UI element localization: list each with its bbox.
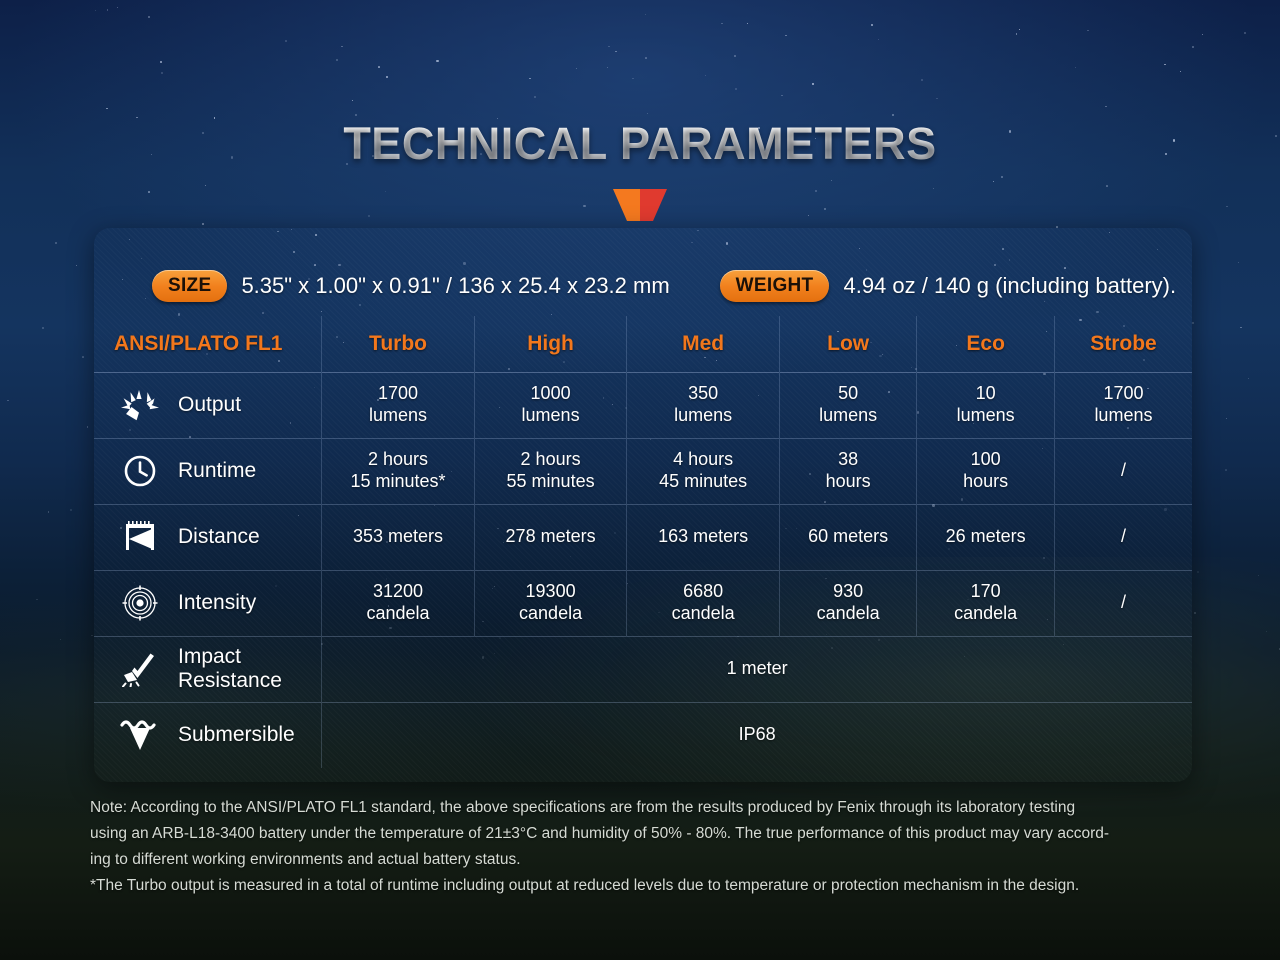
cell-runtime-low: 38 hours xyxy=(779,438,917,504)
cell-runtime-strobe: / xyxy=(1054,438,1192,504)
column-header-strobe: Strobe xyxy=(1054,316,1192,372)
cell-line-2: lumens xyxy=(1055,405,1192,427)
cell-distance-high: 278 meters xyxy=(474,504,627,570)
table-header-row: ANSI/PLATO FL1 Turbo High Med Low Eco St… xyxy=(94,316,1192,372)
table-row: Distance 353 meters 278 meters 163 meter… xyxy=(94,504,1192,570)
impact-label-line2: Resistance xyxy=(178,669,282,692)
column-header-low: Low xyxy=(779,316,917,372)
cell-line-2: hours xyxy=(780,471,917,493)
footnote-line-2: using an ARB-L18-3400 battery under the … xyxy=(90,821,1208,847)
table-body: Output 1700 lumens 1000 lumens 350 lumen… xyxy=(94,372,1192,768)
cell-line-2: hours xyxy=(917,471,1054,493)
cell-line-2: candela xyxy=(780,603,917,625)
column-header-standard: ANSI/PLATO FL1 xyxy=(94,316,322,372)
size-weight-row: SIZE 5.35" x 1.00" x 0.91" / 136 x 25.4 … xyxy=(94,228,1192,316)
weight-badge: WEIGHT xyxy=(720,270,830,302)
column-header-high: High xyxy=(474,316,627,372)
cell-line-2: lumens xyxy=(917,405,1054,427)
row-label-text: ImpactResistance xyxy=(178,645,282,692)
row-label-text: Runtime xyxy=(178,459,256,483)
cell-output-turbo: 1700 lumens xyxy=(322,372,475,438)
cell-line-2: candela xyxy=(322,603,474,625)
cell-submersible-value: IP68 xyxy=(322,702,1192,768)
sunburst-icon xyxy=(116,385,164,425)
row-label-runtime: Runtime xyxy=(94,438,322,504)
cell-runtime-eco: 100 hours xyxy=(917,438,1055,504)
cell-line-1: 1700 xyxy=(1055,383,1192,405)
row-label-text: Output xyxy=(178,393,241,417)
cell-line-1: 2 hours xyxy=(322,449,474,471)
cell-line-2: lumens xyxy=(780,405,917,427)
row-label-submersible: Submersible xyxy=(94,702,322,768)
column-header-med: Med xyxy=(627,316,780,372)
cell-line-1: 6680 xyxy=(627,581,779,603)
cell-intensity-eco: 170 candela xyxy=(917,570,1055,636)
cell-line-1: 100 xyxy=(917,449,1054,471)
column-header-eco: Eco xyxy=(917,316,1055,372)
specs-table: ANSI/PLATO FL1 Turbo High Med Low Eco St… xyxy=(94,316,1192,768)
column-header-turbo: Turbo xyxy=(322,316,475,372)
cell-line-2: candela xyxy=(475,603,627,625)
page-title: TECHNICAL PARAMETERS xyxy=(343,118,936,170)
footnote-line-3: ing to different working environments an… xyxy=(90,847,1208,873)
row-label-text: Submersible xyxy=(178,723,295,747)
cell-line-1: 10 xyxy=(917,383,1054,405)
cell-intensity-low: 930 candela xyxy=(779,570,917,636)
cell-line-1: 1700 xyxy=(322,383,474,405)
footnote-line-1: Note: According to the ANSI/PLATO FL1 st… xyxy=(90,795,1208,821)
cell-runtime-high: 2 hours 55 minutes xyxy=(474,438,627,504)
cell-line-1: 170 xyxy=(917,581,1054,603)
cell-impact-resistance-value: 1 meter xyxy=(322,636,1192,702)
cell-line-2: candela xyxy=(917,603,1054,625)
cell-line-2: lumens xyxy=(627,405,779,427)
cell-line-1: 50 xyxy=(780,383,917,405)
cell-output-low: 50 lumens xyxy=(779,372,917,438)
cell-line-2: 45 minutes xyxy=(627,471,779,493)
cell-line-2: lumens xyxy=(475,405,627,427)
cell-line-1: 31200 xyxy=(322,581,474,603)
cell-line-2: candela xyxy=(627,603,779,625)
cell-intensity-high: 19300 candela xyxy=(474,570,627,636)
target-intensity-icon xyxy=(116,583,164,623)
footnote: Note: According to the ANSI/PLATO FL1 st… xyxy=(90,795,1208,899)
row-label-intensity: Intensity xyxy=(94,570,322,636)
footnote-line-4: *The Turbo output is measured in a total… xyxy=(90,873,1208,899)
cell-line-1: 19300 xyxy=(475,581,627,603)
cell-output-med: 350 lumens xyxy=(627,372,780,438)
cell-intensity-strobe: / xyxy=(1054,570,1192,636)
cell-distance-strobe: / xyxy=(1054,504,1192,570)
table-row: Output 1700 lumens 1000 lumens 350 lumen… xyxy=(94,372,1192,438)
cell-distance-eco: 26 meters xyxy=(917,504,1055,570)
cell-line-1: 1000 xyxy=(475,383,627,405)
table-row: Runtime 2 hours 15 minutes* 2 hours 55 m… xyxy=(94,438,1192,504)
cell-distance-med: 163 meters xyxy=(627,504,780,570)
impact-label-line1: Impact xyxy=(178,645,241,668)
cell-line-1: 2 hours xyxy=(475,449,627,471)
cell-output-eco: 10 lumens xyxy=(917,372,1055,438)
cell-line-1: 350 xyxy=(627,383,779,405)
specs-panel: SIZE 5.35" x 1.00" x 0.91" / 136 x 25.4 … xyxy=(94,228,1192,782)
cell-distance-turbo: 353 meters xyxy=(322,504,475,570)
cell-intensity-med: 6680 candela xyxy=(627,570,780,636)
chevron-down-icon xyxy=(0,186,1280,224)
table-row: Intensity 31200 candela 19300 candela 66… xyxy=(94,570,1192,636)
cell-line-1: 38 xyxy=(780,449,917,471)
size-badge: SIZE xyxy=(152,270,227,302)
cell-line-2: lumens xyxy=(322,405,474,427)
cell-runtime-turbo: 2 hours 15 minutes* xyxy=(322,438,475,504)
table-header: ANSI/PLATO FL1 Turbo High Med Low Eco St… xyxy=(94,316,1192,372)
cell-runtime-med: 4 hours 45 minutes xyxy=(627,438,780,504)
row-label-output: Output xyxy=(94,372,322,438)
clock-icon xyxy=(116,451,164,491)
row-label-text: Intensity xyxy=(178,591,256,615)
cell-line-1: 930 xyxy=(780,581,917,603)
weight-value: 4.94 oz / 140 g (including battery). xyxy=(843,273,1176,299)
cell-distance-low: 60 meters xyxy=(779,504,917,570)
cell-line-2: 55 minutes xyxy=(475,471,627,493)
row-label-text: Distance xyxy=(178,525,260,549)
cell-line-2: 15 minutes* xyxy=(322,471,474,493)
submersible-icon xyxy=(116,715,164,755)
beam-distance-icon xyxy=(116,517,164,557)
table-row: ImpactResistance 1 meter xyxy=(94,636,1192,702)
size-value: 5.35" x 1.00" x 0.91" / 136 x 25.4 x 23.… xyxy=(241,273,669,299)
cell-output-high: 1000 lumens xyxy=(474,372,627,438)
row-label-distance: Distance xyxy=(94,504,322,570)
row-label-impact-resistance: ImpactResistance xyxy=(94,636,322,702)
page-header: TECHNICAL PARAMETERS xyxy=(0,118,1280,224)
impact-resistance-icon xyxy=(116,649,164,689)
cell-output-strobe: 1700 lumens xyxy=(1054,372,1192,438)
table-row: Submersible IP68 xyxy=(94,702,1192,768)
cell-line-1: 4 hours xyxy=(627,449,779,471)
cell-intensity-turbo: 31200 candela xyxy=(322,570,475,636)
